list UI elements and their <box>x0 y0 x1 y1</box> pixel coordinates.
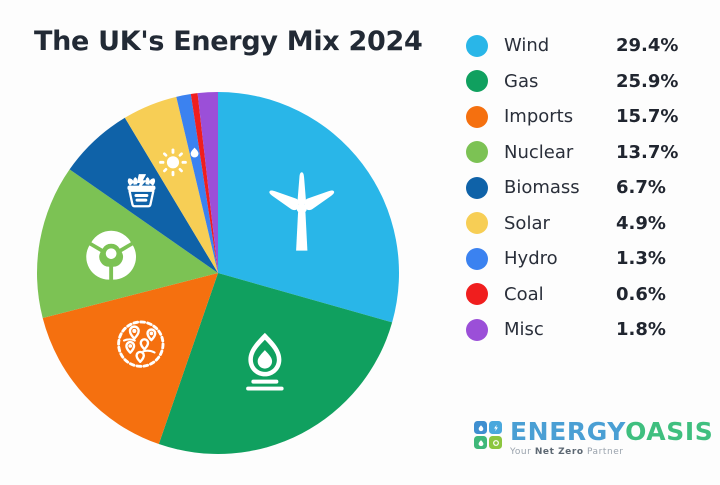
legend-item-value: 4.9% <box>616 213 666 234</box>
logo-word-oasis: OASIS <box>625 417 713 446</box>
legend-item-value: 0.6% <box>616 284 666 305</box>
legend-item-solar[interactable]: Solar4.9% <box>466 206 706 242</box>
legend-item-value: 15.7% <box>616 106 678 127</box>
legend-swatch-icon <box>466 70 488 92</box>
legend-swatch-icon <box>466 177 488 199</box>
legend-swatch-icon <box>466 283 488 305</box>
brand-logo: ENERGYOASIS Your Net Zero Partner <box>474 419 713 457</box>
legend-item-label: Coal <box>504 284 616 305</box>
legend-item-gas[interactable]: Gas25.9% <box>466 64 706 100</box>
legend-swatch-icon <box>466 35 488 57</box>
legend-item-nuclear[interactable]: Nuclear13.7% <box>466 135 706 171</box>
legend-item-value: 13.7% <box>616 142 678 163</box>
legend-swatch-icon <box>466 212 488 234</box>
legend-swatch-icon <box>466 141 488 163</box>
logo-word-energy: ENERGY <box>510 417 625 446</box>
biomass-plant-icon <box>128 175 155 207</box>
page-title: The UK's Energy Mix 2024 <box>34 26 422 57</box>
legend-item-value: 1.3% <box>616 248 666 269</box>
tagline-post: Partner <box>584 447 624 457</box>
legend-item-label: Gas <box>504 71 616 92</box>
legend-item-misc[interactable]: Misc1.8% <box>466 312 706 348</box>
legend-swatch-icon <box>466 106 488 128</box>
energy-mix-infographic: The UK's Energy Mix 2024 <box>0 0 720 485</box>
tagline-pre: Your <box>510 447 535 457</box>
legend-item-label: Wind <box>504 35 616 56</box>
logo-wordmark: ENERGYOASIS <box>510 419 713 444</box>
logo-mark-icon <box>474 421 502 449</box>
legend-item-hydro[interactable]: Hydro1.3% <box>466 241 706 277</box>
legend-item-imports[interactable]: Imports15.7% <box>466 99 706 135</box>
legend-item-label: Solar <box>504 213 616 234</box>
logo-tile-leaf-green <box>474 436 487 449</box>
legend: Wind29.4%Gas25.9%Imports15.7%Nuclear13.7… <box>466 28 706 348</box>
legend-item-value: 6.7% <box>616 177 666 198</box>
legend-item-coal[interactable]: Coal0.6% <box>466 277 706 313</box>
logo-text: ENERGYOASIS Your Net Zero Partner <box>510 419 713 457</box>
legend-item-label: Imports <box>504 106 616 127</box>
legend-item-value: 25.9% <box>616 71 678 92</box>
pie-chart-svg <box>36 91 400 455</box>
logo-tile-bolt-blue <box>489 421 502 434</box>
pie-slices <box>37 92 399 454</box>
legend-item-label: Hydro <box>504 248 616 269</box>
logo-tagline: Your Net Zero Partner <box>510 447 713 457</box>
legend-item-value: 1.8% <box>616 319 666 340</box>
legend-item-label: Misc <box>504 319 616 340</box>
legend-swatch-icon <box>466 319 488 341</box>
legend-item-label: Biomass <box>504 177 616 198</box>
tagline-bold: Net Zero <box>535 447 584 457</box>
legend-item-wind[interactable]: Wind29.4% <box>466 28 706 64</box>
logo-tile-circle-green <box>489 436 502 449</box>
legend-item-biomass[interactable]: Biomass6.7% <box>466 170 706 206</box>
pie-chart <box>36 91 400 455</box>
legend-item-value: 29.4% <box>616 35 678 56</box>
legend-item-label: Nuclear <box>504 142 616 163</box>
logo-tile-drop-blue <box>474 421 487 434</box>
legend-swatch-icon <box>466 248 488 270</box>
